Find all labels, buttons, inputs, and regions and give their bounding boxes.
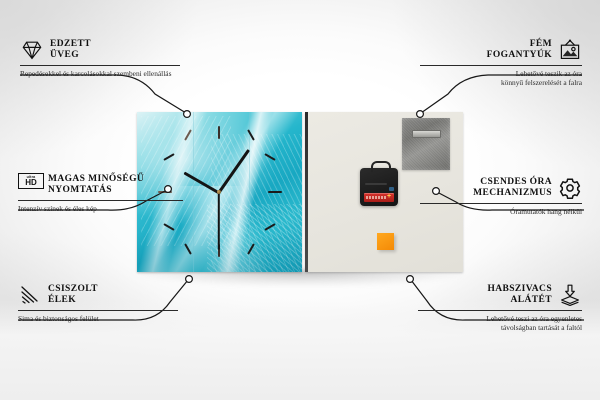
hanging-loop [371, 161, 391, 172]
leader-line-edzett-uveg [20, 75, 186, 113]
callout-description: Óramutatók hang nélkül [420, 207, 582, 216]
hd-badge-large: HD [21, 179, 41, 188]
callout-edzett-uveg[interactable]: EDZETT ÜVEG Repedésekkel és karcolásokka… [20, 38, 180, 78]
callout-title-line1: EDZETT [50, 39, 91, 50]
callout-description-line2: távolságban tartását a faltól [418, 323, 582, 332]
callout-rule [18, 200, 183, 201]
callout-header: ultra HD MAGAS MINŐSÉGŰ NYOMTATÁS [18, 173, 183, 197]
hour-tick [268, 191, 282, 193]
callout-title-line1: CSISZOLT [48, 284, 98, 295]
callout-title-line1: CSENDES ÓRA [473, 177, 552, 188]
callout-description: Repedésekkel és karcolásokkal szembeni e… [20, 69, 180, 78]
infographic-canvas: + [0, 0, 600, 400]
mechanism-chip [389, 187, 394, 191]
callout-title-line2: ÉLEK [48, 295, 98, 306]
callout-rule [420, 65, 582, 66]
hour-tick [218, 126, 220, 139]
callout-habszivacs-alatet[interactable]: HABSZIVACS ALÁTÉT Lehetővé teszi az óra … [418, 283, 582, 333]
callout-header: FÉM FOGANTYÚK [420, 38, 582, 62]
product-photo: + [137, 112, 463, 277]
mechanism-seam [365, 183, 387, 185]
callout-rule [418, 310, 582, 311]
foam-pad [377, 233, 394, 250]
callout-rule [420, 203, 582, 204]
ultra-hd-icon: ultra HD [18, 173, 42, 197]
diamond-icon [20, 38, 44, 62]
callout-rule [20, 65, 180, 66]
callout-header: CSENDES ÓRA MECHANIZMUS [420, 176, 582, 200]
callout-description-line2: könnyű felszerelését a falra [420, 78, 582, 87]
callout-title-line1: FÉM [487, 39, 552, 50]
callout-rule [18, 310, 178, 311]
picture-hanger-icon [558, 38, 582, 62]
metal-hanger-plate [402, 118, 450, 170]
callout-csendes-ora-mechanizmus[interactable]: CSENDES ÓRA MECHANIZMUS Óramutatók hang … [420, 176, 582, 216]
callout-description: Sima és biztonságos felület [18, 314, 178, 323]
callout-magas-minosegu-nyomtatas[interactable]: ultra HD MAGAS MINŐSÉGŰ NYOMTATÁS Intenz… [18, 173, 183, 213]
callout-header: EDZETT ÜVEG [20, 38, 180, 62]
gear-icon [558, 176, 582, 200]
callout-description-line1: Lehetővé teszik az óra [420, 69, 582, 78]
callout-csiszolt-elek[interactable]: CSISZOLT ÉLEK Sima és biztonságos felüle… [18, 283, 178, 323]
callout-title-line2: ÜVEG [50, 50, 91, 61]
callout-description-line1: Lehetővé teszi az óra egyenletes [418, 314, 582, 323]
product-shadow [141, 270, 461, 286]
callout-title-line1: MAGAS MINŐSÉGŰ [48, 174, 144, 185]
callout-header: HABSZIVACS ALÁTÉT [418, 283, 582, 307]
callout-title-line2: FOGANTYÚK [487, 50, 552, 61]
callout-title-line2: NYOMTATÁS [48, 185, 144, 196]
callout-fem-fogantyuk[interactable]: FÉM FOGANTYÚK Lehetővé teszik az óra kön… [420, 38, 582, 88]
callout-title-line2: MECHANIZMUS [473, 188, 552, 199]
hanger-slot [412, 130, 441, 138]
callout-title-line2: ALÁTÉT [487, 295, 552, 306]
callout-title-line1: HABSZIVACS [487, 284, 552, 295]
polished-edge-icon [18, 283, 42, 307]
clock-mechanism: + [360, 168, 398, 206]
callout-header: CSISZOLT ÉLEK [18, 283, 178, 307]
battery: + [364, 193, 394, 202]
callout-description: Intenzív színek és éles kép [18, 204, 183, 213]
panel-dark-edge [305, 112, 308, 272]
foam-pad-icon [558, 283, 582, 307]
second-hand [218, 192, 220, 250]
